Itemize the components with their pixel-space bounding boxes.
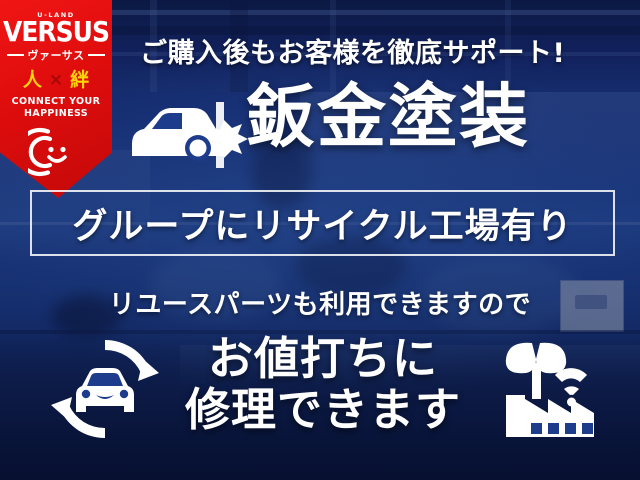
brand-kana-label: ヴァーサス <box>27 47 84 63</box>
car-collision-icon <box>128 98 250 170</box>
brand-kana-row: ヴァーサス <box>0 47 112 63</box>
slogan-line-1: CONNECT YOUR <box>0 96 112 108</box>
value-repair-line-2: 修理できます <box>168 387 478 434</box>
support-headline: ご購入後もお客様を徹底サポート! <box>140 31 620 70</box>
value-repair-line-1: お値打ちに <box>168 336 478 383</box>
promo-banner-image: U-LAND VERSUS ヴァーサス 人 × 絆 CONNECT YOUR H… <box>0 0 640 480</box>
slogan-line-2: HAPPINESS <box>0 108 112 120</box>
tagline-row: 人 × 絆 <box>0 71 112 90</box>
value-repair-headline: お値打ちに 修理できます <box>168 336 478 434</box>
smiley-c-logo-icon <box>28 124 84 180</box>
tagline-left-label: 人 <box>23 71 42 90</box>
brand-wordmark: VERSUS <box>0 18 112 46</box>
recycle-factory-label: グループにリサイクル工場有り <box>72 198 572 249</box>
recycle-car-icon <box>46 333 164 445</box>
rule-left <box>7 54 24 56</box>
rule-right <box>88 54 105 56</box>
tagline-x-icon: × <box>49 72 63 89</box>
slogan-block: CONNECT YOUR HAPPINESS <box>0 96 112 120</box>
reuse-parts-text: リユースパーツも利用できますので <box>0 284 640 321</box>
hero-headline: 鈑金塗装 <box>246 83 530 152</box>
tagline-right-label: 絆 <box>70 71 89 90</box>
recycle-factory-box: グループにリサイクル工場有り <box>30 190 615 256</box>
eco-factory-icon <box>480 333 602 443</box>
